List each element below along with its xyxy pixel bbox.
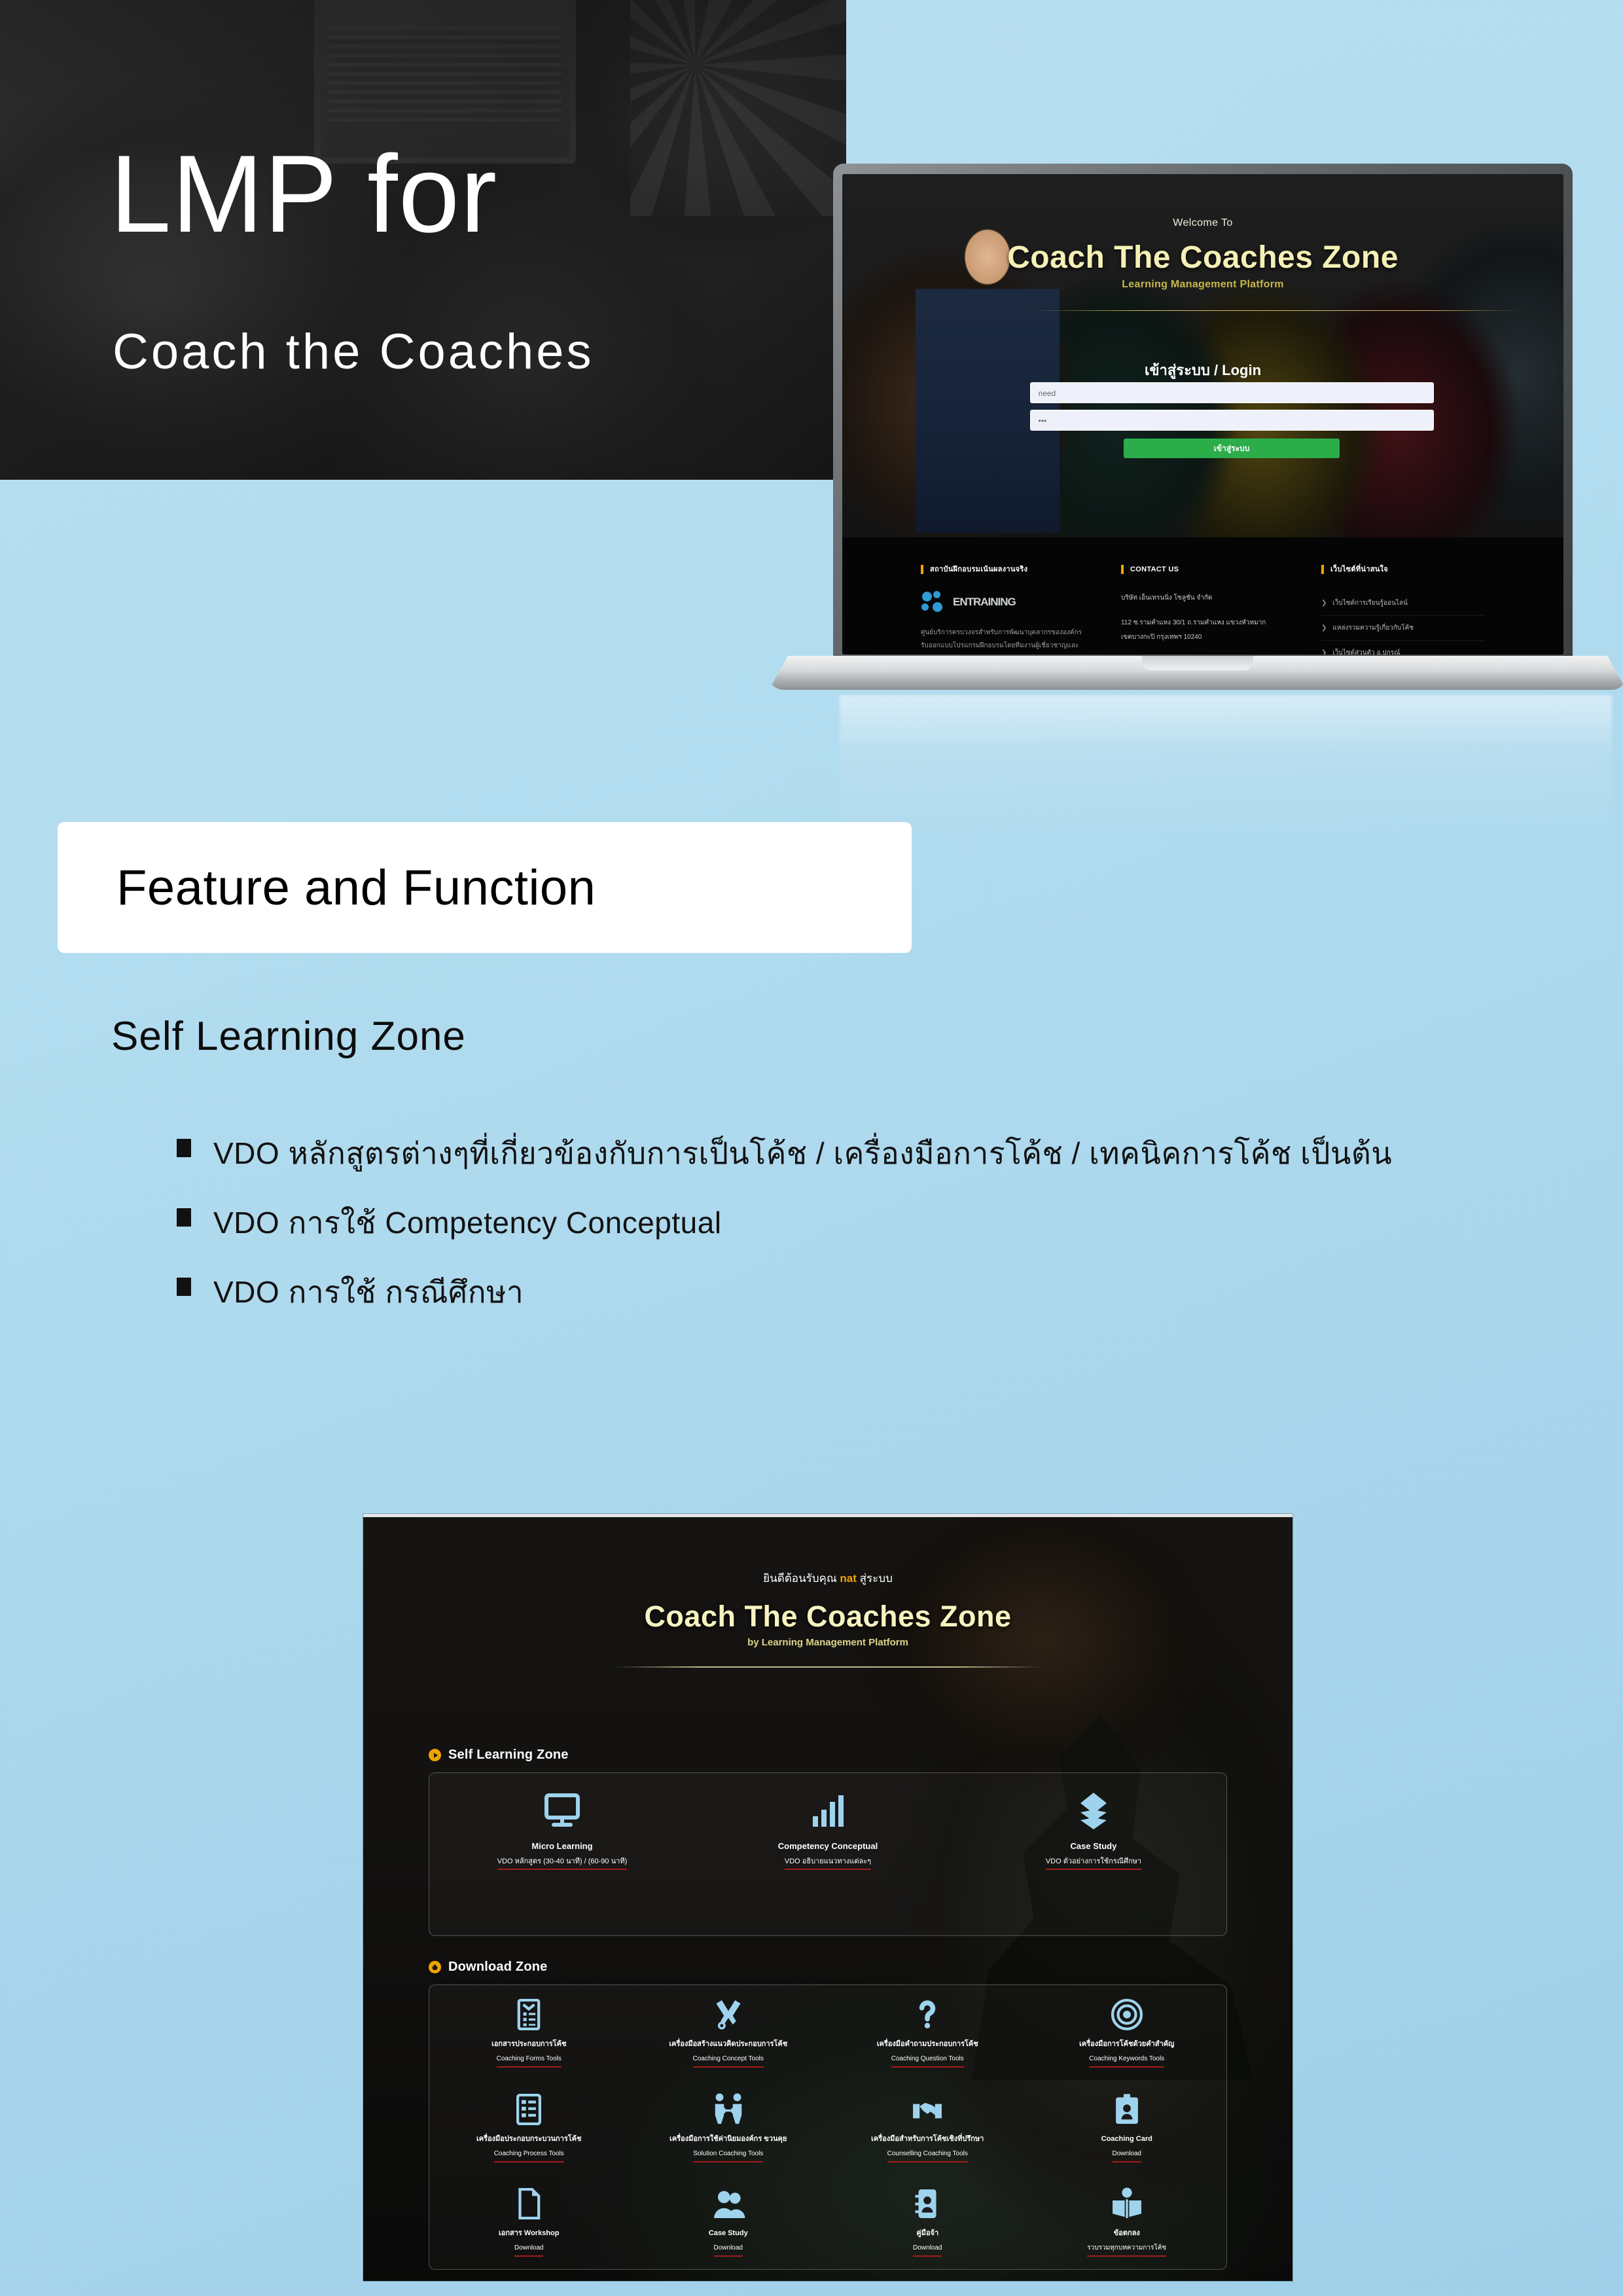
entraining-logo-text: ENTRAINING <box>953 596 1016 609</box>
bullet-text: VDO การใช้ Competency Conceptual <box>213 1195 722 1250</box>
card-workshop-document[interactable]: เอกสาร Workshop Download <box>429 2174 629 2269</box>
card-coaching-keywords-tools[interactable]: เครื่องมือการโค้ชด้วยคำสำคัญ Coaching Ke… <box>1027 1985 1227 2080</box>
zone-heading-label: Self Learning Zone <box>448 1748 569 1763</box>
dashboard-content: ยินดีต้อนรับคุณ nat สู่ระบบ Coach The Co… <box>363 1517 1293 2281</box>
card-subtitle: VDO อธิบายแนวทางแต่ละๆ <box>785 1857 871 1870</box>
card-title: เอกสารประกอบการโค้ช <box>491 2039 566 2049</box>
checklist-icon <box>511 2092 546 2127</box>
greeting-suffix: สู่ระบบ <box>857 1572 893 1585</box>
footer-link-label: เว็บไซต์การเรียนรู้ออนไลน์ <box>1332 598 1407 608</box>
card-solution-coaching-tools[interactable]: เครื่องมือการใช้ค่านิยมองค์กร ขวนคุย Sol… <box>629 2080 829 2175</box>
card-subtitle: Download <box>714 2244 743 2257</box>
download-zone-panel: เอกสารประกอบการโค้ช Coaching Forms Tools… <box>429 1984 1227 2270</box>
zone-heading-self-learning: Self Learning Zone <box>429 1748 569 1763</box>
list-item: VDO การใช้ กรณีศึกษา <box>177 1265 1459 1319</box>
card-subtitle: Download <box>913 2244 942 2257</box>
question-mark-icon <box>910 1997 945 2032</box>
card-title: เครื่องมือคำถามประกอบการโค้ช <box>877 2039 978 2049</box>
laptop-reflection <box>840 695 1612 905</box>
two-people-icon <box>711 2092 746 2127</box>
card-subtitle: Download <box>1113 2149 1141 2162</box>
open-book-icon <box>1109 2186 1145 2221</box>
handshake-icon <box>910 2092 945 2127</box>
card-title: Micro Learning <box>531 1841 592 1852</box>
card-agreement[interactable]: ข้อตกลง รวบรวมทุกบทความการโค้ช <box>1027 2174 1227 2269</box>
card-subtitle: รวบรวมทุกบทความการโค้ช <box>1087 2244 1166 2257</box>
card-title: เครื่องมือสร้างแนวคิดประกอบการโค้ช <box>669 2039 787 2049</box>
self-learning-zone-panel: Micro Learning VDO หลักสูตร (30-40 นาที)… <box>429 1772 1227 1936</box>
tools-icon <box>711 1997 746 2032</box>
footer-link-label: เว็บไซต์ส่วนตัว อ.ปกรณ์ <box>1332 648 1400 655</box>
footer-link-label: แหล่งรวมความรู้เกี่ยวกับโค้ช <box>1332 623 1414 633</box>
password-input[interactable]: ••• <box>1030 410 1434 431</box>
laptop-hinge-notch <box>1142 656 1253 670</box>
card-coaching-card[interactable]: Coaching Card Download <box>1027 2080 1227 2175</box>
card-title: เอกสาร Workshop <box>499 2228 559 2238</box>
laptop-screen: Welcome To Coach The Coaches Zone Learni… <box>842 174 1563 655</box>
footer-about-body: ศูนย์บริการครบวงจรสำหรับการพัฒนาบุคลากรข… <box>921 626 1084 655</box>
footer-about-heading: สถาบันฝึกอบรมเน้นผลงานจริง <box>921 565 1084 574</box>
dashboard-greeting: ยินดีต้อนรับคุณ nat สู่ระบบ <box>363 1570 1293 1587</box>
card-title: เครื่องมือการโค้ชด้วยคำสำคัญ <box>1079 2039 1174 2049</box>
card-manual[interactable]: คู่มือจ้า Download <box>828 2174 1027 2269</box>
dashboard-screenshot: ยินดีต้อนรับคุณ nat สู่ระบบ Coach The Co… <box>363 1514 1293 2281</box>
card-counselling-coaching-tools[interactable]: เครื่องมือสำหรับการโค้ชเชิงที่ปรึกษา Cou… <box>828 2080 1027 2175</box>
login-footer: สถาบันฝึกอบรมเน้นผลงานจริง ENTRAINING ศู… <box>842 537 1563 655</box>
zone-heading-download: Download Zone <box>429 1960 547 1975</box>
greeting-prefix: ยินดีต้อนรับคุณ <box>763 1572 840 1585</box>
card-micro-learning[interactable]: Micro Learning VDO หลักสูตร (30-40 นาที)… <box>429 1773 695 1935</box>
feature-heading-text: Feature and Function <box>116 859 596 916</box>
greeting-username: nat <box>840 1572 857 1585</box>
card-title: เครื่องมือสำหรับการโค้ชเชิงที่ปรึกษา <box>871 2134 984 2144</box>
card-coaching-question-tools[interactable]: เครื่องมือคำถามประกอบการโค้ช Coaching Qu… <box>828 1985 1027 2080</box>
layers-icon <box>1073 1790 1115 1832</box>
card-subtitle: VDO หลักสูตร (30-40 นาที) / (60-90 นาที) <box>497 1857 627 1870</box>
card-subtitle: Coaching Concept Tools <box>693 2054 764 2068</box>
dashboard-subtitle: by Learning Management Platform <box>363 1637 1293 1648</box>
login-tagline: Learning Management Platform <box>842 279 1563 291</box>
group-icon <box>711 2186 746 2221</box>
section-title-self-learning-zone: Self Learning Zone <box>111 1013 466 1060</box>
login-divider <box>1030 310 1520 311</box>
target-icon <box>1109 1997 1145 2032</box>
file-icon <box>511 2186 546 2221</box>
card-subtitle: Coaching Process Tools <box>494 2149 564 2162</box>
card-title: เครื่องมือการใช้ค่านิยมองค์กร ขวนคุย <box>669 2134 787 2144</box>
laptop-mockup: Welcome To Coach The Coaches Zone Learni… <box>769 164 1623 687</box>
id-card-icon <box>1109 2092 1145 2127</box>
hero-banner: LMP for Coach the Coaches <box>0 0 846 480</box>
list-item: VDO หลักสูตรต่างๆที่เกี่ยวข้องกับการเป็น… <box>177 1126 1459 1181</box>
card-title: เครื่องมือประกอบกระบวนการโค้ช <box>476 2134 582 2144</box>
play-circle-icon <box>429 1749 441 1761</box>
card-subtitle: Download <box>514 2244 543 2257</box>
dashboard-divider <box>614 1666 1041 1668</box>
username-input[interactable]: need <box>1030 382 1434 403</box>
footer-column-links: เว็บไซต์ที่น่าสนใจ ❯เว็บไซต์การเรียนรู้อ… <box>1321 565 1485 655</box>
footer-links-heading: เว็บไซต์ที่น่าสนใจ <box>1321 565 1485 574</box>
form-document-icon <box>511 1997 546 2032</box>
card-subtitle: Counselling Coaching Tools <box>887 2149 968 2162</box>
laptop-lid: Welcome To Coach The Coaches Zone Learni… <box>833 164 1573 669</box>
bullet-text: VDO การใช้ กรณีศึกษา <box>213 1265 524 1319</box>
bullet-text: VDO หลักสูตรต่างๆที่เกี่ยวข้องกับการเป็น… <box>213 1126 1392 1181</box>
login-heading: เข้าสู่ระบบ / Login <box>842 359 1563 382</box>
footer-address-line2: เขตบางกะปิ กรุงเทพฯ 10240 <box>1121 630 1285 645</box>
footer-link-item[interactable]: ❯เว็บไซต์ส่วนตัว อ.ปกรณ์ <box>1321 641 1485 655</box>
bullet-square-icon <box>177 1278 191 1296</box>
footer-link-item[interactable]: ❯แหล่งรวมความรู้เกี่ยวกับโค้ช <box>1321 616 1485 641</box>
feature-bullet-list: VDO หลักสูตรต่างๆที่เกี่ยวข้องกับการเป็น… <box>177 1126 1459 1334</box>
card-case-study[interactable]: Case Study VDO ตัวอย่างการใช้กรณีศึกษา <box>961 1773 1226 1935</box>
card-subtitle: Coaching Keywords Tools <box>1089 2054 1164 2068</box>
card-title: Case Study <box>1071 1841 1117 1852</box>
card-title: Competency Conceptual <box>778 1841 878 1852</box>
footer-link-item[interactable]: ❯เว็บไซต์การเรียนรู้ออนไลน์ <box>1321 591 1485 616</box>
download-grid: เอกสารประกอบการโค้ช Coaching Forms Tools… <box>429 1985 1226 2269</box>
card-subtitle: Coaching Forms Tools <box>497 2054 562 2068</box>
login-brand-title: Coach The Coaches Zone <box>842 240 1563 276</box>
card-subtitle: VDO ตัวอย่างการใช้กรณีศึกษา <box>1046 1857 1141 1870</box>
self-learning-grid: Micro Learning VDO หลักสูตร (30-40 นาที)… <box>429 1773 1226 1935</box>
card-title: ข้อตกลง <box>1114 2228 1140 2238</box>
card-title: คู่มือจ้า <box>916 2228 938 2238</box>
list-item: VDO การใช้ Competency Conceptual <box>177 1195 1459 1250</box>
footer-column-contact: CONTACT US บริษัท เอ็นเทรนนิ่ง โซลูชั่น … <box>1121 565 1285 655</box>
chevron-right-icon: ❯ <box>1321 600 1327 607</box>
bullet-square-icon <box>177 1208 191 1227</box>
footer-company-name: บริษัท เอ็นเทรนนิ่ง โซลูชั่น จำกัด <box>1121 591 1285 605</box>
card-subtitle: Solution Coaching Tools <box>693 2149 763 2162</box>
bar-chart-icon <box>807 1790 849 1832</box>
footer-address-line1: 112 ซ.รามคำแหง 30/1 ถ.รามคำแหง แขวงหัวหม… <box>1121 616 1285 630</box>
monitor-icon <box>541 1790 583 1832</box>
bullet-square-icon <box>177 1139 191 1157</box>
card-coaching-forms-tools[interactable]: เอกสารประกอบการโค้ช Coaching Forms Tools <box>429 1985 629 2080</box>
card-competency-conceptual[interactable]: Competency Conceptual VDO อธิบายแนวทางแต… <box>695 1773 961 1935</box>
hero-title: LMP for <box>110 139 497 249</box>
footer-column-about: สถาบันฝึกอบรมเน้นผลงานจริง ENTRAINING ศู… <box>921 565 1084 655</box>
manual-icon <box>910 2186 945 2221</box>
entraining-logo-mark-icon <box>921 591 950 613</box>
footer-contact-heading: CONTACT US <box>1121 565 1285 574</box>
card-coaching-process-tools[interactable]: เครื่องมือประกอบกระบวนการโค้ช Coaching P… <box>429 2080 629 2175</box>
welcome-label: Welcome To <box>842 217 1563 229</box>
chevron-right-icon: ❯ <box>1321 649 1327 655</box>
card-subtitle: Coaching Question Tools <box>891 2054 964 2068</box>
card-title: Case Study <box>709 2228 748 2238</box>
download-drop-icon <box>429 1961 441 1973</box>
card-case-study-download[interactable]: Case Study Download <box>629 2174 829 2269</box>
zone-heading-label: Download Zone <box>448 1960 547 1975</box>
login-button[interactable]: เข้าสู่ระบบ <box>1124 439 1340 458</box>
entraining-logo: ENTRAINING <box>921 591 1084 613</box>
feature-heading-box: Feature and Function <box>58 822 912 953</box>
card-coaching-concept-tools[interactable]: เครื่องมือสร้างแนวคิดประกอบการโค้ช Coach… <box>629 1985 829 2080</box>
dashboard-title: Coach The Coaches Zone <box>363 1600 1293 1634</box>
hero-subtitle: Coach the Coaches <box>113 327 594 377</box>
chevron-right-icon: ❯ <box>1321 624 1327 632</box>
card-title: Coaching Card <box>1101 2134 1152 2144</box>
